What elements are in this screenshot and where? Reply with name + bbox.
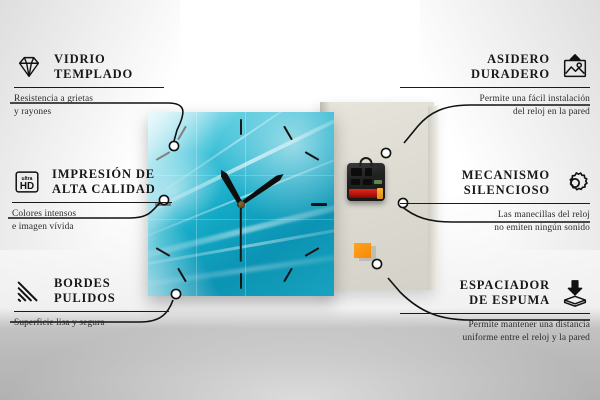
- feature-header: ASIDERO DURADERO: [400, 52, 590, 82]
- hour-tick-6: [240, 273, 242, 289]
- mechanism-detail: [365, 168, 372, 176]
- feature-description: Permite una fácil instalación del reloj …: [400, 93, 590, 118]
- battery: [349, 189, 383, 198]
- hour-tick-1: [283, 126, 293, 141]
- hour-tick-12: [240, 119, 242, 135]
- feature-title: BORDES PULIDOS: [54, 276, 116, 306]
- hour-tick-5: [283, 268, 293, 283]
- beveled-edge-icon: [14, 276, 44, 306]
- feature-espaciador-de-espuma: ESPACIADOR DE ESPUMA Permite mantener un…: [400, 278, 590, 345]
- hour-tick-3: [311, 203, 327, 206]
- mechanism-detail: [351, 168, 362, 176]
- clock-hands-hub: [238, 201, 245, 208]
- mechanism-detail: [363, 179, 372, 185]
- hanging-frame-icon: [560, 52, 590, 82]
- feature-rule: [400, 87, 590, 88]
- feature-mecanismo-silencioso: MECANISMO SILENCIOSO Las manecillas del …: [400, 168, 590, 235]
- quartz-mechanism: [347, 163, 385, 201]
- feature-header: VIDRIO TEMPLADO: [14, 52, 204, 82]
- feature-vidrio-templado: VIDRIO TEMPLADO Resistencia a grietas y …: [14, 52, 204, 119]
- foam-spacer: [354, 243, 371, 258]
- mechanism-label: [374, 180, 382, 184]
- feature-title: IMPRESIÓN DE ALTA CALIDAD: [52, 167, 156, 197]
- svg-text:HD: HD: [20, 181, 34, 192]
- feature-asidero-duradero: ASIDERO DURADERO Permite una fácil insta…: [400, 52, 590, 119]
- feature-title: ESPACIADOR DE ESPUMA: [460, 278, 550, 308]
- foam-spacer-icon: [560, 278, 590, 308]
- feature-rule: [400, 203, 590, 204]
- feature-rule: [400, 313, 590, 314]
- feature-header: MECANISMO SILENCIOSO: [400, 168, 590, 198]
- feature-impresion-alta-calidad: ultra HD IMPRESIÓN DE ALTA CALIDAD Color…: [12, 167, 202, 234]
- feature-description: Las manecillas del reloj no emiten ningú…: [400, 209, 590, 234]
- feature-description: Superficie lisa y segura: [14, 317, 204, 330]
- feature-title: MECANISMO SILENCIOSO: [462, 168, 550, 198]
- hour-tick-4: [305, 247, 320, 257]
- feature-bordes-pulidos: BORDES PULIDOS Superficie lisa y segura: [14, 276, 204, 330]
- hour-tick-2: [305, 151, 320, 161]
- feature-title: ASIDERO DURADERO: [471, 52, 550, 82]
- feature-rule: [14, 87, 164, 88]
- feature-description: Colores intensos e imagen vívida: [12, 208, 202, 233]
- ultra-hd-icon: ultra HD: [12, 167, 42, 197]
- feature-description: Permite mantener una distancia uniforme …: [400, 319, 590, 344]
- feature-title: VIDRIO TEMPLADO: [54, 52, 133, 82]
- feature-header: BORDES PULIDOS: [14, 276, 204, 306]
- mechanism-detail: [351, 179, 360, 185]
- feature-rule: [12, 202, 172, 203]
- second-hand: [240, 200, 242, 262]
- feature-rule: [14, 311, 169, 312]
- diamond-icon: [14, 52, 44, 82]
- mechanism-hanger-icon: [360, 157, 373, 166]
- feature-header: ultra HD IMPRESIÓN DE ALTA CALIDAD: [12, 167, 202, 197]
- feature-description: Resistencia a grietas y rayones: [14, 93, 204, 118]
- gear-icon: [560, 168, 590, 198]
- face-grid-line: [245, 112, 246, 296]
- feature-header: ESPACIADOR DE ESPUMA: [400, 278, 590, 308]
